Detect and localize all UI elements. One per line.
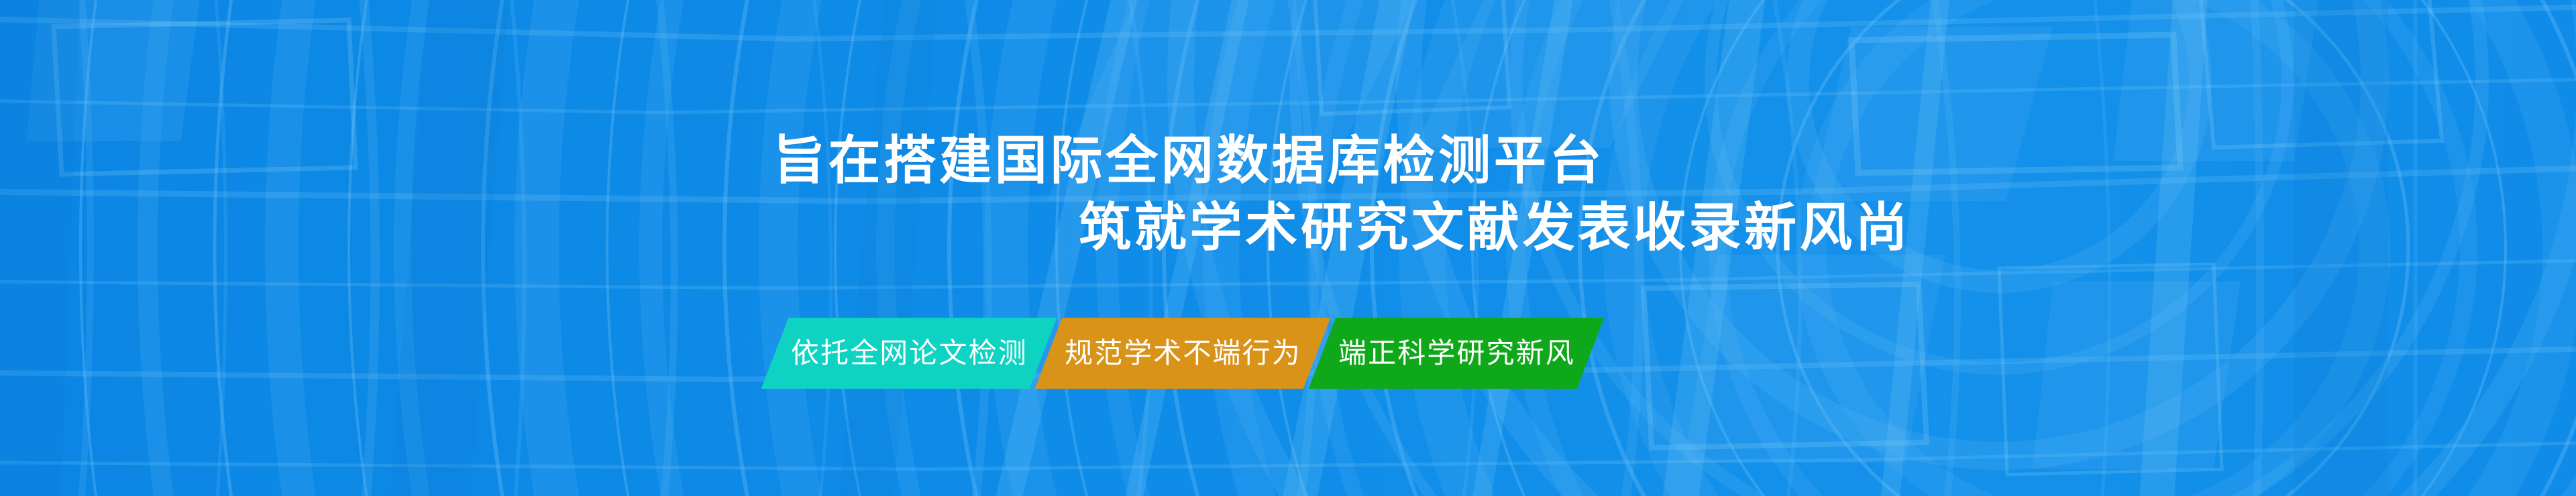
feature-tag-1-label: 依托全网论文检测 — [791, 318, 1028, 389]
feature-tag-2-label: 规范学术不端行为 — [1065, 318, 1301, 389]
feature-tag-2[interactable]: 规范学术不端行为 — [1035, 318, 1331, 389]
background-pattern — [0, 0, 2576, 496]
feature-tag-strip: 依托全网论文检测 规范学术不端行为 端正科学研究新风 — [775, 318, 1591, 389]
promo-banner: 旨在搭建国际全网数据库检测平台 筑就学术研究文献发表收录新风尚 依托全网论文检测… — [0, 0, 2576, 496]
feature-tag-1[interactable]: 依托全网论文检测 — [761, 318, 1057, 389]
feature-tag-3-label: 端正科学研究新风 — [1338, 318, 1575, 389]
feature-tag-3[interactable]: 端正科学研究新风 — [1309, 318, 1605, 389]
